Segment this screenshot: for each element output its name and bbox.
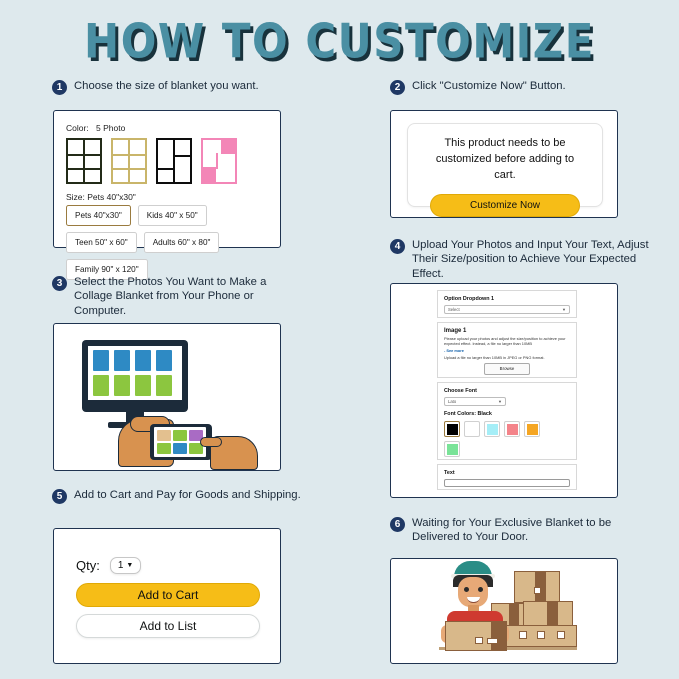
text-label: Text xyxy=(444,470,570,476)
swatch-cyan[interactable] xyxy=(484,421,500,437)
step-3-badge: 3 xyxy=(52,276,67,291)
step-6-text: Waiting for Your Exclusive Blanket to be… xyxy=(412,516,652,545)
step-5-panel: Qty: 1 ▼ Add to Cart Add to List xyxy=(53,528,281,664)
image-upload-card: Image 1 Please upload your photos and ad… xyxy=(437,322,577,378)
step-6-panel xyxy=(390,558,618,664)
font-colors-label: Font Colors: Black xyxy=(444,411,570,417)
add-to-list-button[interactable]: Add to List xyxy=(76,614,260,638)
color-label: Color: xyxy=(66,123,89,133)
box-label xyxy=(557,631,565,639)
image-hint: Please upload your photos and adjust the… xyxy=(444,336,570,347)
font-color-swatch-row-2 xyxy=(444,441,570,457)
quantity-row: Qty: 1 ▼ xyxy=(76,557,141,574)
step-3-heading: 3 Select the Photos You Want to Make a C… xyxy=(52,275,292,318)
step-3-panel xyxy=(53,323,281,471)
monitor-tile xyxy=(135,375,151,396)
monitor-tile xyxy=(114,350,130,371)
customize-notice-message: This product needs to be customized befo… xyxy=(426,136,584,184)
phone-tile xyxy=(173,443,187,454)
choose-font-label: Choose Font xyxy=(444,388,570,394)
box-label xyxy=(519,631,527,639)
monitor-tile xyxy=(156,350,172,371)
collage-thumb-3[interactable] xyxy=(156,138,192,184)
size-option-adults[interactable]: Adults 60" x 80" xyxy=(144,232,220,253)
held-box-label xyxy=(487,638,498,644)
collage-thumb-4[interactable] xyxy=(201,138,237,184)
step-2-heading: 2 Click "Customize Now" Button. xyxy=(390,79,670,95)
qty-value: 1 xyxy=(118,560,124,571)
swatch-white[interactable] xyxy=(464,421,480,437)
add-to-cart-button[interactable]: Add to Cart xyxy=(76,583,260,607)
color-value: 5 Photo xyxy=(96,123,125,133)
step-1-badge: 1 xyxy=(52,80,67,95)
delivery-illustration xyxy=(391,559,619,665)
step-1-heading: 1 Choose the size of blanket you want. xyxy=(52,79,352,95)
infographic-page: HOW TO CUSTOMIZE 1 Choose the size of bl… xyxy=(0,0,679,679)
step-5-text: Add to Cart and Pay for Goods and Shippi… xyxy=(74,488,301,502)
qty-select[interactable]: 1 ▼ xyxy=(110,557,142,574)
step-1-panel: Color: 5 Photo Size: Pets 40"x30" Pets 4… xyxy=(53,110,281,248)
step-5-badge: 5 xyxy=(52,489,67,504)
upload-hint: Upload a file no larger than 10MB in JPE… xyxy=(444,355,570,360)
customize-notice-card: This product needs to be customized befo… xyxy=(407,123,603,207)
phone-tile xyxy=(157,443,171,454)
swatch-green[interactable] xyxy=(444,441,460,457)
font-select[interactable]: Lato ▼ xyxy=(444,397,506,406)
step-4-heading: 4 Upload Your Photos and Input Your Text… xyxy=(390,238,662,281)
step-5-heading: 5 Add to Cart and Pay for Goods and Ship… xyxy=(52,488,302,504)
size-option-list: Pets 40"x30" Kids 40" x 50" Teen 50" x 6… xyxy=(66,205,270,280)
size-option-kids[interactable]: Kids 40" x 50" xyxy=(138,205,207,226)
monitor-tile xyxy=(93,350,109,371)
size-option-pets[interactable]: Pets 40"x30" xyxy=(66,205,131,226)
phone-tile xyxy=(173,430,187,441)
monitor-tile xyxy=(156,375,172,396)
monitor-tile xyxy=(135,350,151,371)
step-2-text: Click "Customize Now" Button. xyxy=(412,79,566,93)
customize-now-button[interactable]: Customize Now xyxy=(430,194,580,217)
step-3-text: Select the Photos You Want to Make a Col… xyxy=(74,275,292,318)
chevron-down-icon: ▼ xyxy=(562,307,566,312)
step-2-badge: 2 xyxy=(390,80,405,95)
font-value: Lato xyxy=(448,399,456,404)
image-label: Image 1 xyxy=(444,328,570,334)
swatch-salmon[interactable] xyxy=(504,421,520,437)
box-label xyxy=(537,631,545,639)
font-settings-card: Choose Font Lato ▼ Font Colors: Black xyxy=(437,382,577,460)
monitor-tile xyxy=(93,375,109,396)
chevron-down-icon: ▼ xyxy=(126,562,133,569)
box-label xyxy=(534,587,541,594)
text-input[interactable] xyxy=(444,479,570,487)
chevron-down-icon: ▼ xyxy=(498,399,502,404)
pointing-finger-icon xyxy=(200,437,222,447)
page-title: HOW TO CUSTOMIZE xyxy=(0,14,679,69)
step-1-text: Choose the size of blanket you want. xyxy=(74,79,259,93)
step-6-badge: 6 xyxy=(390,517,405,532)
step-4-badge: 4 xyxy=(390,239,405,254)
option-dropdown-label: Option Dropdown 1 xyxy=(444,296,570,302)
see-more-link[interactable]: - See more xyxy=(444,348,570,353)
step-4-panel: Option Dropdown 1 Select ▼ Image 1 Pleas… xyxy=(390,283,618,498)
size-label: Size: Pets 40"x30" xyxy=(66,192,136,202)
monitor-tile xyxy=(114,375,130,396)
swatch-orange[interactable] xyxy=(524,421,540,437)
text-input-card: Text xyxy=(437,464,577,490)
step-6-heading: 6 Waiting for Your Exclusive Blanket to … xyxy=(390,516,652,545)
eye xyxy=(464,587,469,592)
phone-tile xyxy=(157,430,171,441)
eye xyxy=(478,587,483,592)
font-color-swatch-row-1 xyxy=(444,421,570,437)
collage-thumb-1[interactable] xyxy=(66,138,102,184)
browse-button[interactable]: Browse xyxy=(484,363,530,375)
option-dropdown-card: Option Dropdown 1 Select ▼ xyxy=(437,290,577,318)
collage-thumb-2[interactable] xyxy=(111,138,147,184)
collage-thumbnail-list xyxy=(66,138,237,184)
swatch-black[interactable] xyxy=(444,421,460,437)
held-box-side xyxy=(491,621,507,651)
held-box-label xyxy=(475,637,483,644)
option-dropdown-value: Select xyxy=(448,307,460,312)
option-dropdown-select[interactable]: Select ▼ xyxy=(444,305,570,314)
step-2-panel: This product needs to be customized befo… xyxy=(390,110,618,218)
qty-label: Qty: xyxy=(76,558,100,573)
size-option-teen[interactable]: Teen 50" x 60" xyxy=(66,232,137,253)
step-4-text: Upload Your Photos and Input Your Text, … xyxy=(412,238,662,281)
photo-selection-illustration xyxy=(54,324,282,472)
